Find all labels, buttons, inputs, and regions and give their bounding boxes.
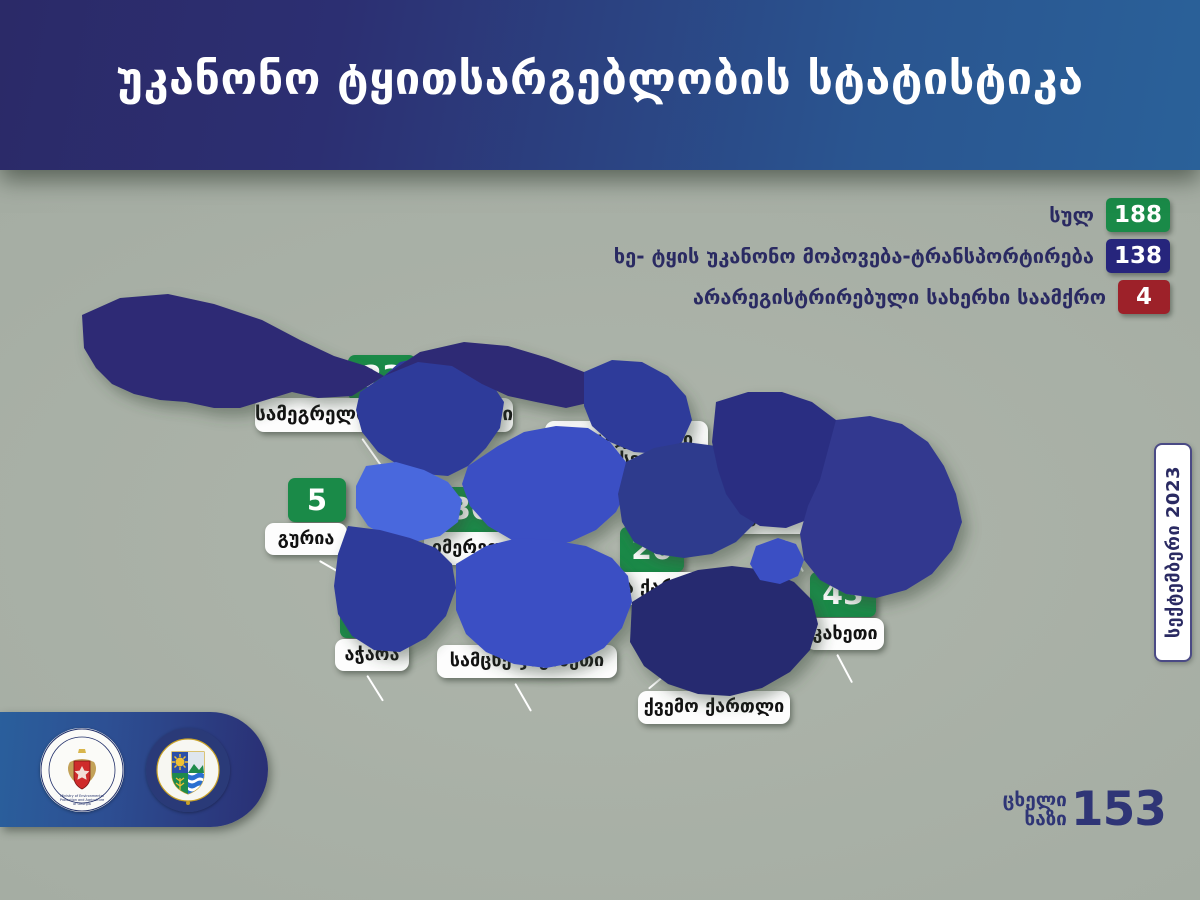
svg-text:of Georgia: of Georgia bbox=[73, 802, 91, 806]
legend-row: სულ 188 bbox=[614, 198, 1170, 232]
infographic-root: უკანონო ტყითსარგებლობის სტატისტიკა სულ 1… bbox=[0, 0, 1200, 900]
month-tab-label: სექტემბერი 2023 bbox=[1163, 466, 1184, 638]
legend-label-sawmill: არარეგისტრირებული სახერხი საამქრო bbox=[693, 285, 1106, 309]
region-shape-kvemo-kartli bbox=[630, 566, 818, 696]
legend-badge-sawmill: 4 bbox=[1118, 280, 1170, 314]
ministry-emblem-icon: Ministry of Environmental Protection and… bbox=[40, 728, 124, 812]
page-header: უკანონო ტყითსარგებლობის სტატისტიკა bbox=[0, 0, 1200, 170]
hotline: ცხელი ხაზი 153 bbox=[1003, 782, 1166, 837]
hotline-line1: ცხელი bbox=[1003, 791, 1067, 810]
legend-row: ხე- ტყის უკანონო მოპოვება-ტრანსპორტირება… bbox=[614, 239, 1170, 273]
hotline-line2: ხაზი bbox=[1003, 810, 1067, 829]
legend: სულ 188 ხე- ტყის უკანონო მოპოვება-ტრანსპ… bbox=[614, 198, 1170, 321]
legend-badge-total: 188 bbox=[1106, 198, 1170, 232]
ministry-emblem-svg: Ministry of Environmental Protection and… bbox=[40, 728, 124, 812]
supervision-department-emblem-icon bbox=[146, 728, 230, 812]
region-shape-adjara bbox=[334, 526, 456, 652]
legend-label-total: სულ bbox=[1049, 203, 1094, 227]
region-shape-abkhazia bbox=[82, 294, 384, 408]
logo-pod: Ministry of Environmental Protection and… bbox=[0, 712, 268, 827]
map-regions bbox=[82, 294, 962, 696]
legend-badge-timber: 138 bbox=[1106, 239, 1170, 273]
month-tab: სექტემბერი 2023 bbox=[1154, 443, 1192, 662]
hotline-words: ცხელი ხაზი bbox=[1003, 791, 1067, 828]
region-shape-samtskhe bbox=[456, 538, 632, 668]
legend-label-timber: ხე- ტყის უკანონო მოპოვება-ტრანსპორტირება bbox=[614, 244, 1094, 268]
page-title: უკანონო ტყითსარგებლობის სტატისტიკა bbox=[0, 54, 1200, 104]
hotline-number: 153 bbox=[1071, 782, 1166, 837]
legend-row: არარეგისტრირებული სახერხი საამქრო 4 bbox=[614, 280, 1170, 314]
supervision-emblem-svg bbox=[146, 728, 230, 812]
